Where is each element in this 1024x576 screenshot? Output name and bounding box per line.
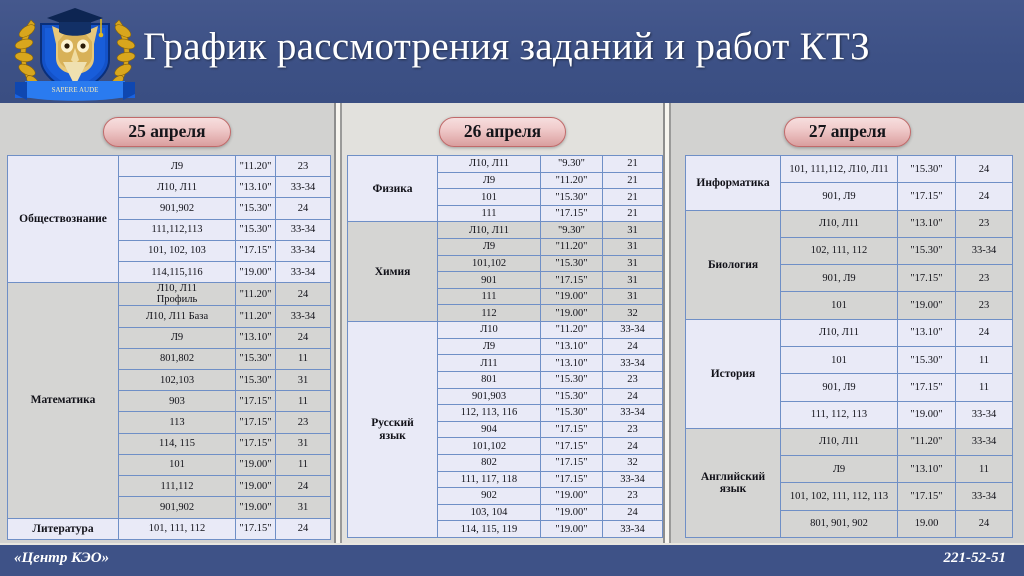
day-panel-26: 26 апреля ФизикаЛ10, Л11"9.30"21Л9"11.20… <box>340 103 665 543</box>
time-cell: "17.15" <box>541 471 603 488</box>
room-cell: 24 <box>603 504 663 521</box>
groups-cell: 102,103 <box>119 370 236 391</box>
date-badge-27[interactable]: 27 апреля <box>784 117 911 147</box>
groups-cell: 101, 111, 112 <box>119 518 236 539</box>
day-panel-27: 27 апреля Информатика101, 111,112, Л10, … <box>669 103 1024 543</box>
groups-cell: 114, 115, 119 <box>438 521 541 538</box>
time-cell: "17.15" <box>236 240 276 261</box>
room-cell: 33-34 <box>603 521 663 538</box>
time-cell: "15.30" <box>236 348 276 369</box>
room-cell: 33-34 <box>276 177 331 198</box>
groups-cell: 101,102 <box>438 255 541 272</box>
groups-cell: Л9 <box>781 456 898 483</box>
table-row: ХимияЛ10, Л11"9.30"31 <box>348 222 663 239</box>
room-cell: 24 <box>276 327 331 348</box>
groups-cell: 101,102 <box>438 438 541 455</box>
time-cell: "15.30" <box>898 237 956 264</box>
groups-cell: 901, Л9 <box>781 374 898 401</box>
slide-root: SAPERE AUDE График рассмотрения заданий … <box>0 0 1024 576</box>
groups-cell: Л10, Л11 <box>781 428 898 455</box>
time-cell: "15.30" <box>898 346 956 373</box>
time-cell: "19.00" <box>541 488 603 505</box>
schedule-table-25: ОбществознаниеЛ9"11.20"23Л10, Л11"13.10"… <box>7 155 331 540</box>
page-title: График рассмотрения заданий и работ КТЗ <box>143 18 1018 76</box>
room-cell: 24 <box>276 476 331 497</box>
groups-cell: 101 <box>119 454 236 475</box>
room-cell: 33-34 <box>956 428 1013 455</box>
groups-cell: 902 <box>438 488 541 505</box>
groups-cell: 103, 104 <box>438 504 541 521</box>
room-cell: 31 <box>276 370 331 391</box>
time-cell: "13.10" <box>541 355 603 372</box>
groups-cell: 111, 112, 113 <box>781 401 898 428</box>
time-cell: "17.15" <box>541 438 603 455</box>
time-cell: "19.00" <box>236 497 276 518</box>
groups-cell: 101 <box>781 346 898 373</box>
time-cell: "13.10" <box>898 319 956 346</box>
groups-cell: Л9 <box>438 172 541 189</box>
groups-cell: 101, 102, 103 <box>119 240 236 261</box>
time-cell: "15.30" <box>541 388 603 405</box>
groups-cell: 901 <box>438 272 541 289</box>
room-cell: 24 <box>603 388 663 405</box>
room-cell: 33-34 <box>603 405 663 422</box>
room-cell: 23 <box>276 412 331 433</box>
time-cell: "9.30" <box>541 222 603 239</box>
slide-body: 25 апреля ОбществознаниеЛ9"11.20"23Л10, … <box>0 103 1024 543</box>
room-cell: 21 <box>603 156 663 173</box>
groups-cell: Л10, Л11 База <box>119 306 236 327</box>
groups-cell: 111, 117, 118 <box>438 471 541 488</box>
room-cell: 33-34 <box>276 240 331 261</box>
time-cell: "15.30" <box>541 405 603 422</box>
time-cell: "9.30" <box>541 156 603 173</box>
room-cell: 23 <box>603 421 663 438</box>
time-cell: "11.20" <box>236 283 276 306</box>
time-cell: "11.20" <box>898 428 956 455</box>
time-cell: "19.00" <box>898 401 956 428</box>
time-cell: "17.15" <box>541 421 603 438</box>
time-cell: "15.30" <box>236 219 276 240</box>
room-cell: 23 <box>276 156 331 177</box>
groups-cell: Л9 <box>438 338 541 355</box>
room-cell: 24 <box>276 518 331 539</box>
room-cell: 31 <box>603 288 663 305</box>
room-cell: 11 <box>956 346 1013 373</box>
room-cell: 33-34 <box>956 237 1013 264</box>
groups-cell: Л10 <box>438 322 541 339</box>
schedule-body-25: ОбществознаниеЛ9"11.20"23Л10, Л11"13.10"… <box>8 156 331 540</box>
time-cell: "11.20" <box>236 306 276 327</box>
table-row: Информатика101, 111,112, Л10, Л11"15.30"… <box>686 156 1013 183</box>
groups-cell: Л9 <box>438 239 541 256</box>
table-row: БиологияЛ10, Л11"13.10"23 <box>686 210 1013 237</box>
time-cell: "19.00" <box>541 504 603 521</box>
subject-cell: Физика <box>348 156 438 222</box>
room-cell: 23 <box>956 292 1013 319</box>
groups-cell: 101 <box>781 292 898 319</box>
room-cell: 24 <box>603 338 663 355</box>
time-cell: "19.00" <box>236 262 276 283</box>
time-cell: "13.10" <box>236 327 276 348</box>
groups-cell: 901, Л9 <box>781 183 898 210</box>
room-cell: 24 <box>956 319 1013 346</box>
date-badge-wrap-25: 25 апреля <box>0 117 334 147</box>
room-cell: 33-34 <box>956 401 1013 428</box>
room-cell: 33-34 <box>956 483 1013 510</box>
subject-cell: Математика <box>8 283 119 518</box>
table-row: Литература101, 111, 112"17.15"24 <box>8 518 331 539</box>
room-cell: 21 <box>603 205 663 222</box>
date-badge-wrap-26: 26 апреля <box>342 117 663 147</box>
room-cell: 11 <box>276 348 331 369</box>
time-cell: "17.15" <box>898 374 956 401</box>
slide-footer: «Центр КЭО» 221-52-51 <box>0 545 1024 576</box>
subject-cell: Литература <box>8 518 119 539</box>
groups-cell: Л10, Л11Профиль <box>119 283 236 306</box>
schedule-table-26: ФизикаЛ10, Л11"9.30"21Л9"11.20"21101"15.… <box>347 155 663 538</box>
groups-cell: 114, 115 <box>119 433 236 454</box>
time-cell: "11.20" <box>541 172 603 189</box>
room-cell: 24 <box>276 198 331 219</box>
time-cell: "17.15" <box>236 518 276 539</box>
groups-cell: 801,802 <box>119 348 236 369</box>
groups-cell: 101, 102, 111, 112, 113 <box>781 483 898 510</box>
room-cell: 32 <box>603 305 663 322</box>
time-cell: "13.10" <box>898 210 956 237</box>
time-cell: "11.20" <box>541 322 603 339</box>
groups-cell: 903 <box>119 391 236 412</box>
groups-cell: Л10, Л11 <box>781 319 898 346</box>
schedule-body-26: ФизикаЛ10, Л11"9.30"21Л9"11.20"21101"15.… <box>348 156 663 538</box>
time-cell: "19.00" <box>541 288 603 305</box>
schedule-body-27: Информатика101, 111,112, Л10, Л11"15.30"… <box>686 156 1013 538</box>
table-row: РусскийязыкЛ10"11.20"33-34 <box>348 322 663 339</box>
groups-cell: 111,112,113 <box>119 219 236 240</box>
room-cell: 11 <box>276 454 331 475</box>
groups-cell: 901, Л9 <box>781 265 898 292</box>
time-cell: "19.00" <box>541 305 603 322</box>
table-row: ОбществознаниеЛ9"11.20"23 <box>8 156 331 177</box>
room-cell: 33-34 <box>276 219 331 240</box>
groups-cell: Л11 <box>438 355 541 372</box>
slide-header: SAPERE AUDE График рассмотрения заданий … <box>0 0 1024 103</box>
time-cell: "17.15" <box>541 205 603 222</box>
time-cell: "17.15" <box>898 183 956 210</box>
groups-cell: 101 <box>438 189 541 206</box>
groups-cell: 113 <box>119 412 236 433</box>
groups-cell: 901,903 <box>438 388 541 405</box>
room-cell: 24 <box>276 283 331 306</box>
groups-cell: 901,902 <box>119 497 236 518</box>
groups-cell: 904 <box>438 421 541 438</box>
room-cell: 24 <box>956 510 1013 537</box>
room-cell: 31 <box>276 433 331 454</box>
room-cell: 32 <box>603 454 663 471</box>
owl-crest-emblem-icon: SAPERE AUDE <box>11 0 139 103</box>
room-cell: 21 <box>603 172 663 189</box>
room-cell: 31 <box>603 272 663 289</box>
time-cell: "11.20" <box>541 239 603 256</box>
room-cell: 31 <box>603 222 663 239</box>
subject-cell: Обществознание <box>8 156 119 283</box>
date-badge-wrap-27: 27 апреля <box>671 117 1024 147</box>
time-cell: "19.00" <box>236 476 276 497</box>
groups-cell: 111,112 <box>119 476 236 497</box>
room-cell: 24 <box>956 156 1013 183</box>
time-cell: "17.15" <box>541 272 603 289</box>
room-cell: 33-34 <box>276 262 331 283</box>
groups-cell: Л10, Л11 <box>119 177 236 198</box>
time-cell: "17.15" <box>236 391 276 412</box>
groups-cell: 112 <box>438 305 541 322</box>
room-cell: 24 <box>603 438 663 455</box>
room-cell: 24 <box>956 183 1013 210</box>
subject-cell: Биология <box>686 210 781 319</box>
room-cell: 33-34 <box>603 471 663 488</box>
table-row: АнглийскийязыкЛ10, Л11"11.20"33-34 <box>686 428 1013 455</box>
time-cell: "15.30" <box>541 371 603 388</box>
subject-cell: Химия <box>348 222 438 322</box>
time-cell: "13.10" <box>898 456 956 483</box>
time-cell: "13.10" <box>236 177 276 198</box>
room-cell: 11 <box>276 391 331 412</box>
groups-cell: 112, 113, 116 <box>438 405 541 422</box>
groups-cell: Л10, Л11 <box>438 222 541 239</box>
time-cell: "19.00" <box>236 454 276 475</box>
groups-cell: 114,115,116 <box>119 262 236 283</box>
time-cell: "17.15" <box>541 454 603 471</box>
groups-cell: 802 <box>438 454 541 471</box>
time-cell: "15.30" <box>236 198 276 219</box>
time-cell: "11.20" <box>236 156 276 177</box>
groups-cell: 111 <box>438 288 541 305</box>
table-row: ФизикаЛ10, Л11"9.30"21 <box>348 156 663 173</box>
room-cell: 23 <box>603 488 663 505</box>
time-cell: "17.15" <box>898 483 956 510</box>
time-cell: "15.30" <box>541 189 603 206</box>
groups-cell: 901,902 <box>119 198 236 219</box>
day-panel-25: 25 апреля ОбществознаниеЛ9"11.20"23Л10, … <box>0 103 336 543</box>
subject-cell: История <box>686 319 781 428</box>
groups-cell: Л10, Л11 <box>438 156 541 173</box>
date-badge-25[interactable]: 25 апреля <box>103 117 230 147</box>
time-cell: "15.30" <box>236 370 276 391</box>
groups-cell: 111 <box>438 205 541 222</box>
footer-organization: «Центр КЭО» <box>14 550 109 567</box>
room-cell: 31 <box>603 239 663 256</box>
time-cell: "17.15" <box>898 265 956 292</box>
time-cell: "15.30" <box>898 156 956 183</box>
table-row: МатематикаЛ10, Л11Профиль"11.20"24 <box>8 283 331 306</box>
time-cell: "17.15" <box>236 433 276 454</box>
room-cell: 33-34 <box>603 322 663 339</box>
room-cell: 11 <box>956 456 1013 483</box>
subject-cell: Английскийязык <box>686 428 781 537</box>
groups-cell: 801 <box>438 371 541 388</box>
time-cell: "13.10" <box>541 338 603 355</box>
groups-cell: Л9 <box>119 156 236 177</box>
groups-cell: Л10, Л11 <box>781 210 898 237</box>
date-badge-26[interactable]: 26 апреля <box>439 117 566 147</box>
room-cell: 11 <box>956 374 1013 401</box>
table-row: ИсторияЛ10, Л11"13.10"24 <box>686 319 1013 346</box>
emblem-motto: SAPERE AUDE <box>52 86 99 94</box>
subject-cell: Информатика <box>686 156 781 211</box>
time-cell: "19.00" <box>541 521 603 538</box>
time-cell: 19.00 <box>898 510 956 537</box>
room-cell: 23 <box>603 371 663 388</box>
groups-cell: 801, 901, 902 <box>781 510 898 537</box>
room-cell: 23 <box>956 210 1013 237</box>
groups-cell: 101, 111,112, Л10, Л11 <box>781 156 898 183</box>
room-cell: 21 <box>603 189 663 206</box>
room-cell: 31 <box>603 255 663 272</box>
groups-cell: 102, 111, 112 <box>781 237 898 264</box>
footer-phone: 221-52-51 <box>944 550 1007 567</box>
groups-cell: Л9 <box>119 327 236 348</box>
schedule-table-27: Информатика101, 111,112, Л10, Л11"15.30"… <box>685 155 1013 538</box>
room-cell: 33-34 <box>603 355 663 372</box>
time-cell: "15.30" <box>541 255 603 272</box>
subject-cell: Русскийязык <box>348 322 438 538</box>
time-cell: "19.00" <box>898 292 956 319</box>
room-cell: 33-34 <box>276 306 331 327</box>
room-cell: 31 <box>276 497 331 518</box>
room-cell: 23 <box>956 265 1013 292</box>
time-cell: "17.15" <box>236 412 276 433</box>
